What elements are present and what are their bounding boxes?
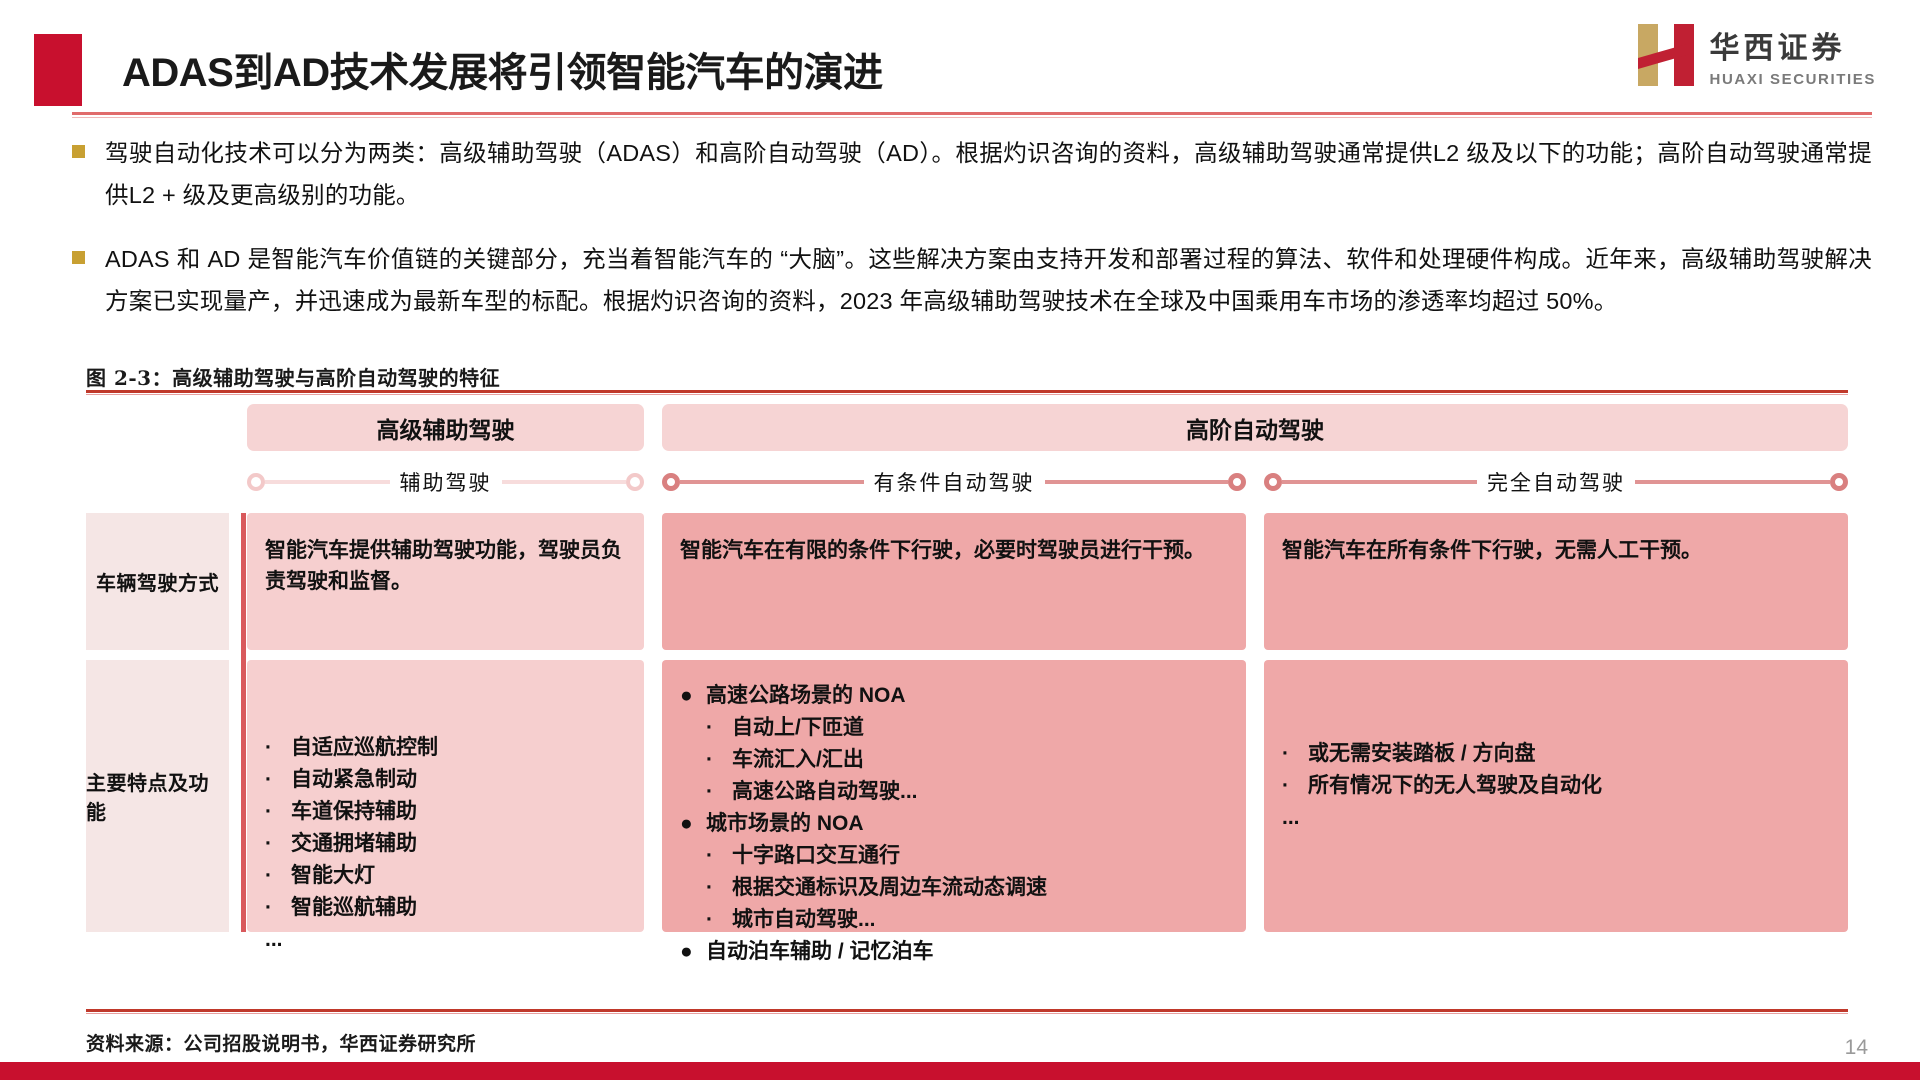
dot-bullet-icon: · [706, 744, 732, 775]
cell-driving-mode-full: 智能汽车在所有条件下行驶，无需人工干预。 [1264, 513, 1848, 650]
list-item: ·交通拥堵辅助 [265, 828, 626, 859]
list-item-label: 智能大灯 [291, 860, 626, 891]
cell-features-conditional: ●高速公路场景的 NOA ·自动上/下匝道 ·车流汇入/汇出 ·高速公路自动驾驶… [662, 660, 1246, 932]
table-vertical-divider [241, 513, 246, 932]
list-item-label: 城市场景的 NOA [706, 808, 1228, 839]
filled-bullet-icon: ● [680, 936, 706, 967]
company-logo: 华西证券 HUAXI SECURITIES [1636, 22, 1876, 88]
timeline-row: 辅助驾驶 有条件自动驾驶 完全自动驾驶 [247, 460, 1848, 504]
timeline-line [1045, 480, 1229, 484]
timeline-label: 完全自动驾驶 [1477, 467, 1635, 497]
list-item: ·车道保持辅助 [265, 796, 626, 827]
dot-bullet-icon: · [1282, 770, 1308, 801]
feature-list-adas: ·自适应巡航控制 ·自动紧急制动 ·车道保持辅助 ·交通拥堵辅助 ·智能大灯 ·… [265, 680, 626, 923]
logo-english-name: HUAXI SECURITIES [1710, 71, 1876, 88]
list-item-label: 车流汇入/汇出 [732, 744, 1228, 775]
list-item-label: 自适应巡航控制 [291, 732, 626, 763]
dot-bullet-icon: · [265, 732, 291, 763]
timeline-dot-icon [1830, 473, 1848, 491]
timeline-label: 有条件自动驾驶 [864, 467, 1045, 497]
list-item-label: 十字路口交互通行 [732, 840, 1228, 871]
timeline-label: 辅助驾驶 [390, 467, 502, 497]
cell-features-full: ·或无需安装踏板 / 方向盘 ·所有情况下的无人驾驶及自动化 ... [1264, 660, 1848, 932]
timeline-dot-icon [1264, 473, 1282, 491]
timeline-segment-conditional: 有条件自动驾驶 [662, 460, 1246, 504]
list-item: ●高速公路场景的 NOA [680, 680, 1228, 711]
feature-list-full: ·或无需安装踏板 / 方向盘 ·所有情况下的无人驾驶及自动化 [1282, 680, 1830, 801]
square-bullet-icon [72, 145, 85, 158]
slide: ADAS到AD技术发展将引领智能汽车的演进 华西证券 HUAXI SECURIT… [0, 0, 1920, 1080]
list-item: ·城市自动驾驶... [680, 904, 1228, 935]
column-header-adas: 高级辅助驾驶 [247, 404, 644, 451]
dot-bullet-icon: · [265, 860, 291, 891]
list-item: ·或无需安装踏板 / 方向盘 [1282, 738, 1830, 769]
timeline-line [680, 480, 864, 484]
list-item-label: 智能巡航辅助 [291, 892, 626, 923]
list-item: ·高速公路自动驾驶... [680, 776, 1228, 807]
header-accent-block [34, 34, 82, 106]
square-bullet-icon [72, 251, 85, 264]
list-item-label: 高速公路自动驾驶... [732, 776, 1228, 807]
dot-bullet-icon: · [265, 796, 291, 827]
table-row: 主要特点及功能 ·自适应巡航控制 ·自动紧急制动 ·车道保持辅助 ·交通拥堵辅助… [86, 660, 1848, 932]
list-item-label: 自动紧急制动 [291, 764, 626, 795]
list-item: ·自适应巡航控制 [265, 732, 626, 763]
list-item: ●城市场景的 NOA [680, 808, 1228, 839]
figure-top-divider [86, 390, 1848, 393]
filled-bullet-icon: ● [680, 680, 706, 711]
cell-driving-mode-conditional: 智能汽车在有限的条件下行驶，必要时驾驶员进行干预。 [662, 513, 1246, 650]
footer-divider [86, 1009, 1848, 1012]
list-item: ·自动上/下匝道 [680, 712, 1228, 743]
list-item-label: 自动泊车辅助 / 记忆泊车 [706, 936, 1228, 967]
timeline-dot-icon [1228, 473, 1246, 491]
list-item: ·十字路口交互通行 [680, 840, 1228, 871]
list-item: ·根据交通标识及周边车流动态调速 [680, 872, 1228, 903]
list-item: ·所有情况下的无人驾驶及自动化 [1282, 770, 1830, 801]
timeline-segment-assisted: 辅助驾驶 [247, 460, 644, 504]
cell-features-adas: ·自适应巡航控制 ·自动紧急制动 ·车道保持辅助 ·交通拥堵辅助 ·智能大灯 ·… [247, 660, 644, 932]
dot-bullet-icon: · [706, 712, 732, 743]
list-item: ·自动紧急制动 [265, 764, 626, 795]
timeline-line [1635, 480, 1830, 484]
footer-divider-secondary [86, 1013, 1848, 1014]
dot-bullet-icon: · [265, 828, 291, 859]
comparison-table: 高级辅助驾驶 高阶自动驾驶 辅助驾驶 有条件自动驾驶 完全自动驾驶 [86, 404, 1848, 942]
bullet-item: 驾驶自动化技术可以分为两类：高级辅助驾驶（ADAS）和高阶自动驾驶（AD）。根据… [72, 132, 1872, 216]
header-divider-secondary [72, 117, 1872, 118]
page-title: ADAS到AD技术发展将引领智能汽车的演进 [122, 40, 883, 98]
row-label-driving-mode: 车辆驾驶方式 [86, 513, 229, 650]
timeline-segment-full: 完全自动驾驶 [1264, 460, 1848, 504]
body-bullet-list: 驾驶自动化技术可以分为两类：高级辅助驾驶（ADAS）和高阶自动驾驶（AD）。根据… [72, 132, 1872, 344]
bullet-text: ADAS 和 AD 是智能汽车价值链的关键部分，充当着智能汽车的 “大脑”。这些… [105, 238, 1872, 322]
dot-bullet-icon: · [706, 840, 732, 871]
list-trailing-ellipsis: ... [1282, 802, 1830, 833]
list-item: ·智能巡航辅助 [265, 892, 626, 923]
figure-caption: 图 2-3：高级辅助驾驶与高阶自动驾驶的特征 [86, 362, 500, 391]
timeline-line [502, 480, 627, 484]
dot-bullet-icon: · [706, 872, 732, 903]
timeline-dot-icon [247, 473, 265, 491]
dot-bullet-icon: · [265, 892, 291, 923]
column-header-ad: 高阶自动驾驶 [662, 404, 1848, 451]
timeline-line [265, 480, 390, 484]
figure-top-divider-secondary [86, 394, 1848, 395]
cell-driving-mode-adas: 智能汽车提供辅助驾驶功能，驾驶员负责驾驶和监督。 [247, 513, 644, 650]
row-label-features: 主要特点及功能 [86, 660, 229, 932]
table-row: 车辆驾驶方式 智能汽车提供辅助驾驶功能，驾驶员负责驾驶和监督。 智能汽车在有限的… [86, 513, 1848, 650]
list-item-label: 所有情况下的无人驾驶及自动化 [1308, 770, 1830, 801]
huaxi-h-mark-icon [1636, 22, 1696, 88]
dot-bullet-icon: · [706, 904, 732, 935]
filled-bullet-icon: ● [680, 808, 706, 839]
list-item: ●自动泊车辅助 / 记忆泊车 [680, 936, 1228, 967]
feature-list-conditional: ●高速公路场景的 NOA ·自动上/下匝道 ·车流汇入/汇出 ·高速公路自动驾驶… [680, 680, 1228, 967]
list-item-label: 自动上/下匝道 [732, 712, 1228, 743]
list-item: ·智能大灯 [265, 860, 626, 891]
list-item-label: 城市自动驾驶... [732, 904, 1228, 935]
list-trailing-ellipsis: ... [265, 924, 626, 955]
list-item-label: 交通拥堵辅助 [291, 828, 626, 859]
dot-bullet-icon: · [706, 776, 732, 807]
list-item: ·车流汇入/汇出 [680, 744, 1228, 775]
dot-bullet-icon: · [265, 764, 291, 795]
logo-chinese-name: 华西证券 [1710, 23, 1876, 67]
timeline-line [1282, 480, 1477, 484]
timeline-dot-icon [626, 473, 644, 491]
list-item-label: 根据交通标识及周边车流动态调速 [732, 872, 1228, 903]
list-item-label: 高速公路场景的 NOA [706, 680, 1228, 711]
list-item-label: 车道保持辅助 [291, 796, 626, 827]
header-divider [72, 112, 1872, 115]
bullet-item: ADAS 和 AD 是智能汽车价值链的关键部分，充当着智能汽车的 “大脑”。这些… [72, 238, 1872, 322]
list-item-label: 或无需安装踏板 / 方向盘 [1308, 738, 1830, 769]
dot-bullet-icon: · [1282, 738, 1308, 769]
timeline-dot-icon [662, 473, 680, 491]
footer-accent-bar [0, 1062, 1920, 1080]
bullet-text: 驾驶自动化技术可以分为两类：高级辅助驾驶（ADAS）和高阶自动驾驶（AD）。根据… [105, 132, 1872, 216]
source-note: 资料来源：公司招股说明书，华西证券研究所 [86, 1029, 476, 1056]
table-header-row: 高级辅助驾驶 高阶自动驾驶 [247, 404, 1848, 451]
page-number: 14 [1845, 1036, 1868, 1060]
